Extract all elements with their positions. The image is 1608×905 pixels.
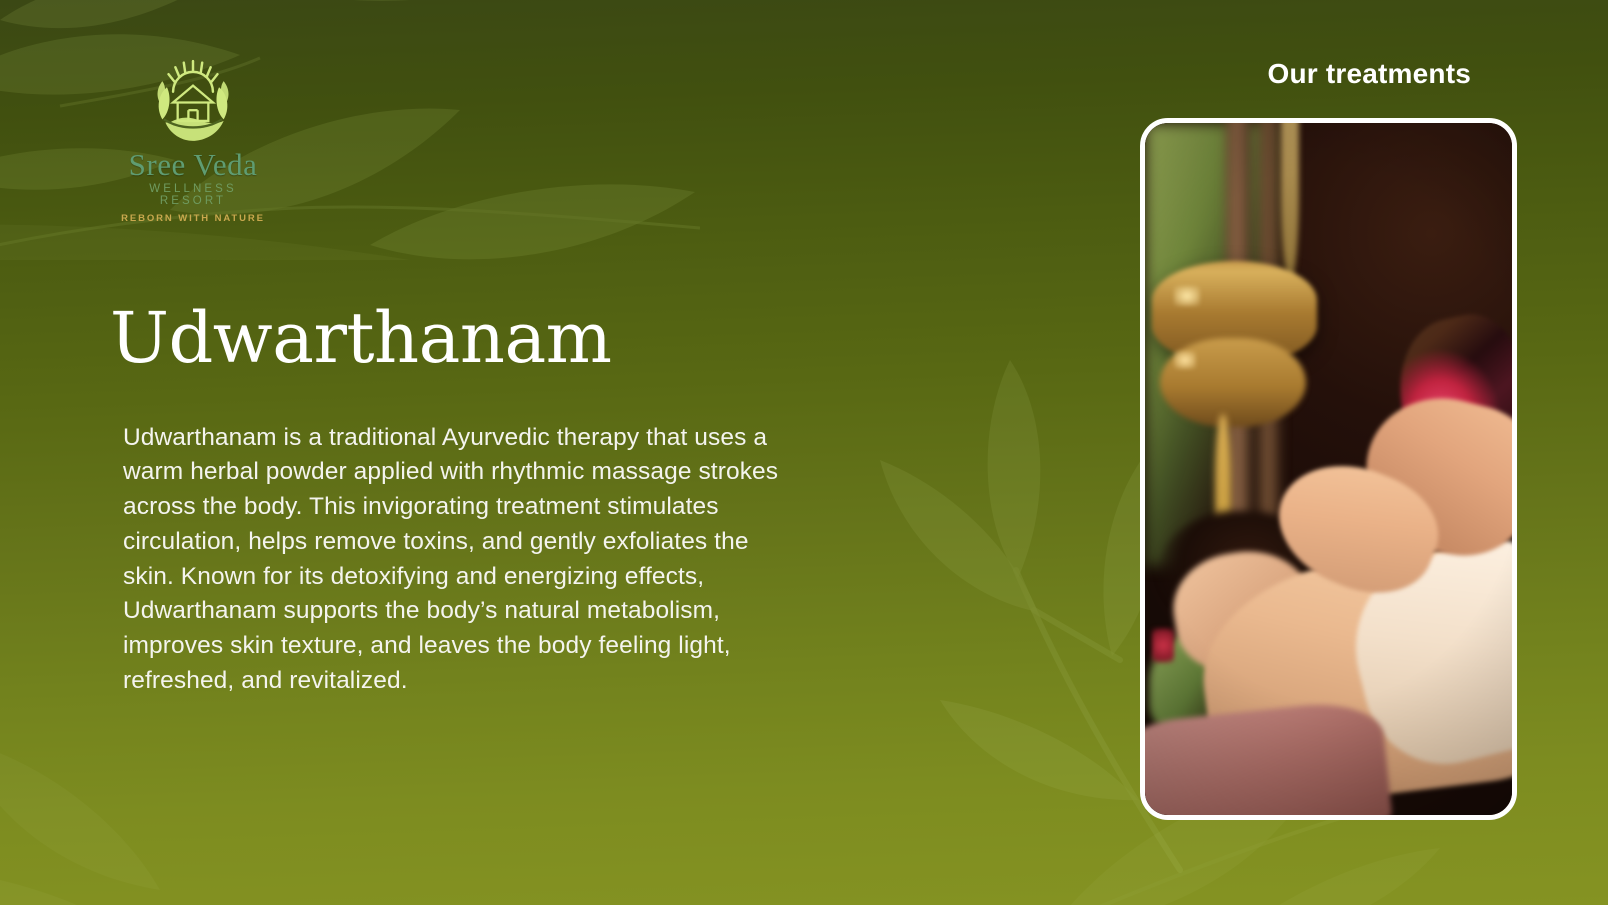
treatment-slide: Sree Veda WELLNESS RESORT REBORN WITH NA… xyxy=(0,0,1608,905)
brand-logo: Sree Veda WELLNESS RESORT REBORN WITH NA… xyxy=(113,55,273,224)
leaf-branch-bottom-left-icon xyxy=(0,700,320,905)
leaf-branch-top-icon xyxy=(0,0,700,260)
wellness-hut-sun-leaf-emblem-icon xyxy=(147,55,239,147)
treatment-photo xyxy=(1145,123,1512,815)
brand-tagline: REBORN WITH NATURE xyxy=(113,213,273,224)
brand-name: Sree Veda xyxy=(113,149,273,182)
treatment-title: Udwarthanam xyxy=(110,303,612,373)
treatment-description: Udwarthanam is a traditional Ayurvedic t… xyxy=(123,421,783,699)
brand-subtitle: WELLNESS RESORT xyxy=(113,183,273,207)
treatment-photo-card xyxy=(1140,118,1517,820)
our-treatments-label: Our treatments xyxy=(1267,58,1471,90)
